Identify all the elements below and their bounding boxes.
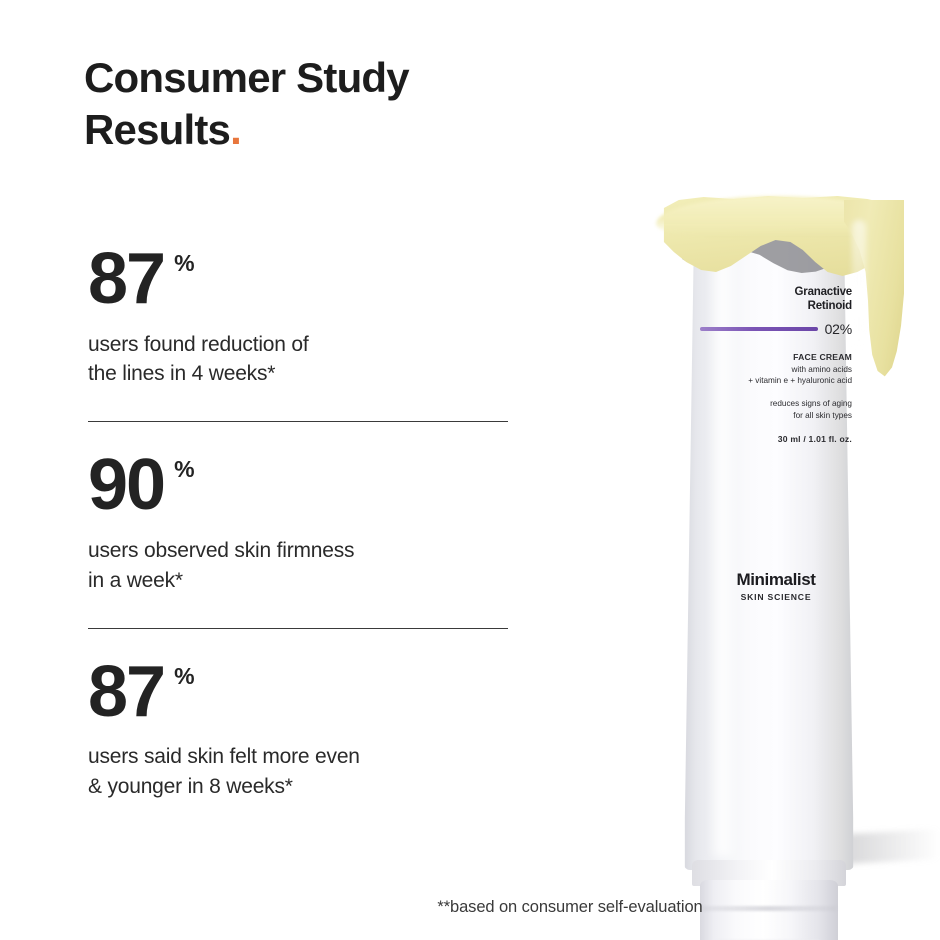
brand-name: Minimalist — [700, 570, 852, 590]
stat-number-row: 87 % — [88, 246, 518, 314]
concentration-value: 02% — [825, 321, 852, 337]
concentration-accent-line — [700, 327, 818, 331]
stat-description: users said skin felt more even & younger… — [88, 742, 518, 802]
stat-unit: % — [174, 252, 194, 275]
stat-description: users observed skin firmness in a week* — [88, 536, 518, 596]
consumer-study-results-graphic: Consumer Study Results. 87 % users found… — [0, 0, 940, 940]
stat-description-line-2: in a week* — [88, 566, 518, 596]
stat-description-line-1: users observed skin firmness — [88, 536, 518, 566]
page-title-line-1: Consumer Study — [84, 52, 524, 104]
stat-number-row: 87 % — [88, 659, 518, 727]
page-title: Consumer Study Results. — [84, 52, 524, 156]
stat-description-line-1: users found reduction of — [88, 330, 518, 360]
stat-description: users found reduction of the lines in 4 … — [88, 330, 518, 390]
stat-item: 87 % users said skin felt more even & yo… — [88, 659, 518, 802]
product-detail-line-2: + vitamin e + hyaluronic acid — [700, 375, 852, 387]
stat-description-line-2: the lines in 4 weeks* — [88, 359, 518, 389]
stat-description-line-2: & younger in 8 weeks* — [88, 772, 518, 802]
ingredient-name-line-2: Retinoid — [700, 299, 852, 313]
stat-description-line-1: users said skin felt more even — [88, 742, 518, 772]
stat-divider — [88, 628, 508, 629]
stat-value: 87 — [88, 659, 164, 727]
product-label: Granactive Retinoid 02% FACE CREAM with … — [700, 285, 852, 446]
brand-tagline: SKIN SCIENCE — [700, 592, 852, 602]
ingredient-name: Granactive Retinoid — [700, 285, 852, 314]
stat-unit: % — [174, 458, 194, 481]
product-type-block: FACE CREAM with amino acids + vitamin e … — [700, 351, 852, 387]
stat-value: 87 — [88, 246, 164, 314]
ingredient-name-line-1: Granactive — [700, 285, 852, 299]
accent-period: . — [230, 106, 241, 153]
stat-number-row: 90 % — [88, 452, 518, 520]
footnote: **based on consumer self-evaluation — [0, 898, 940, 917]
product-benefit-block: reduces signs of aging for all skin type… — [700, 398, 852, 422]
product-benefit-line-2: for all skin types — [700, 410, 852, 422]
product-detail-line-1: with amino acids — [700, 364, 852, 376]
stat-item: 87 % users found reduction of the lines … — [88, 246, 518, 389]
brand-mark: Minimalist SKIN SCIENCE — [700, 570, 852, 602]
stat-unit: % — [174, 665, 194, 688]
page-title-line-2: Results. — [84, 104, 524, 156]
product-image: Granactive Retinoid 02% FACE CREAM with … — [600, 180, 940, 900]
footnote-text: **based on consumer self-evaluation — [237, 898, 702, 917]
cream-drip-highlight — [852, 220, 866, 350]
stat-item: 90 % users observed skin firmness in a w… — [88, 452, 518, 595]
page-title-line-2-text: Results — [84, 106, 230, 153]
product-type: FACE CREAM — [700, 351, 852, 364]
product-benefit-line-1: reduces signs of aging — [700, 398, 852, 410]
product-volume: 30 ml / 1.01 fl. oz. — [700, 433, 852, 446]
product-volume-block: 30 ml / 1.01 fl. oz. — [700, 433, 852, 446]
stat-value: 90 — [88, 452, 164, 520]
concentration-row: 02% — [700, 321, 852, 337]
stats-list: 87 % users found reduction of the lines … — [88, 246, 518, 802]
stat-divider — [88, 421, 508, 422]
